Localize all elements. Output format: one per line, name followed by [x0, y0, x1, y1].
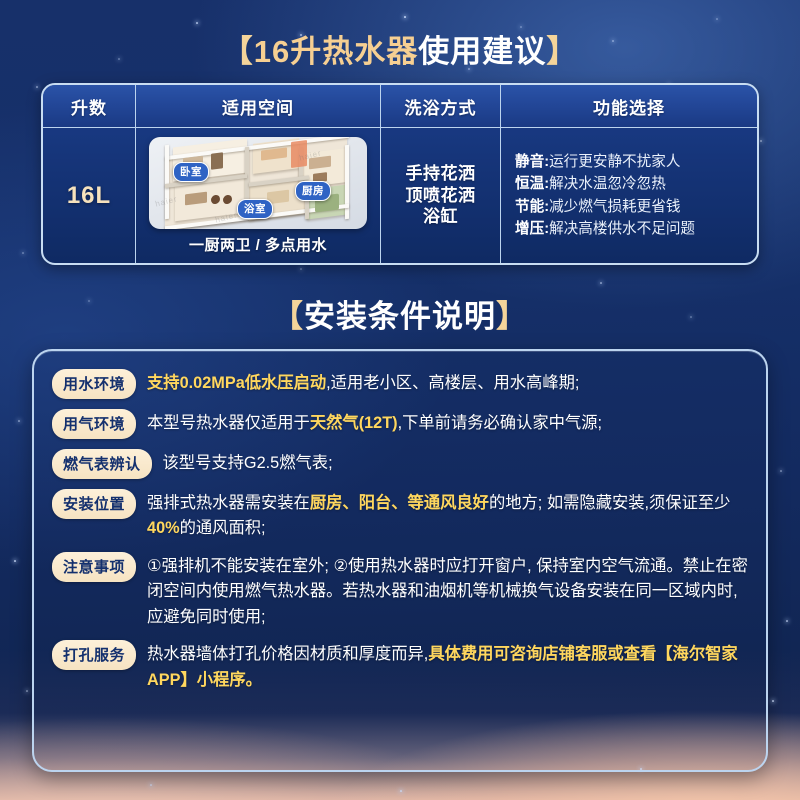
spec-table: 升数 适用空间 洗浴方式 功能选择 16L — [41, 83, 759, 265]
table-header-bathing: 洗浴方式 — [381, 85, 501, 127]
normal-text: 的地方; 如需隐藏安装,须保证至少 — [489, 494, 731, 512]
install-condition-text: 该型号支持G2.5燃气表; — [163, 449, 750, 476]
highlighted-text: 40% — [147, 519, 180, 537]
install-condition-badge: 燃气表辨认 — [52, 449, 152, 479]
install-condition-badge: 安装位置 — [52, 489, 136, 519]
bathing-method-item: 手持花洒 — [406, 163, 476, 185]
feature-row: 恒温:解决水温忽冷忽热 — [515, 173, 666, 195]
highlighted-text: 支持0.02MPa低水压启动 — [147, 374, 326, 392]
install-condition-row: 注意事项①强排机不能安装在室外; ②使用热水器时应打开窗户, 保持室内空气流通。… — [52, 552, 750, 630]
normal-text: 的通风面积; — [180, 519, 266, 537]
feature-value: 减少燃气损耗更省钱 — [549, 199, 680, 215]
normal-text: ,适用老小区、高楼层、用水高峰期; — [326, 374, 579, 392]
install-condition-row: 用水环境支持0.02MPa低水压启动,适用老小区、高楼层、用水高峰期; — [52, 369, 750, 399]
table-header-row: 升数 适用空间 洗浴方式 功能选择 — [43, 85, 757, 128]
normal-text: ①强排机不能安装在室外; ②使用热水器时应打开窗户, 保持室内空气流通。禁止在密… — [147, 557, 748, 626]
title2-bracket-left: 【 — [272, 299, 304, 334]
cell-bathing-methods: 手持花洒 顶喷花洒 浴缸 — [381, 128, 501, 263]
feature-value: 解决高楼供水不足问题 — [549, 221, 695, 237]
normal-text: 热水器墙体打孔价格因材质和厚度而异, — [147, 645, 428, 663]
normal-text: 强排式热水器需安装在 — [147, 494, 310, 512]
title-bracket-left: 【 — [222, 34, 254, 69]
floorplan-image: haier haier haier 卧室 厨房 浴室 — [149, 137, 367, 229]
install-condition-text: 本型号热水器仅适用于天然气(12T),下单前请务必确认家中气源; — [147, 409, 750, 436]
feature-value: 运行更安静不扰家人 — [549, 154, 680, 170]
cell-features: 静音:运行更安静不扰家人恒温:解决水温忽冷忽热节能:减少燃气损耗更省钱增压:解决… — [501, 128, 757, 263]
install-condition-text: 热水器墙体打孔价格因材质和厚度而异,具体费用可咨询店铺客服或查看【海尔智家APP… — [147, 640, 750, 693]
install-condition-badge: 用水环境 — [52, 369, 136, 399]
floorplan-caption: 一厨两卫 / 多点用水 — [189, 234, 327, 255]
feature-row: 节能:减少燃气损耗更省钱 — [515, 196, 680, 218]
table-body-row: 16L — [43, 128, 757, 263]
floorplan-label-bathroom: 浴室 — [237, 199, 273, 219]
install-condition-badge: 用气环境 — [52, 409, 136, 439]
title2-bracket-right: 】 — [496, 299, 528, 334]
feature-row: 静音:运行更安静不扰家人 — [515, 151, 680, 173]
install-condition-badge: 注意事项 — [52, 552, 136, 582]
install-condition-row: 燃气表辨认该型号支持G2.5燃气表; — [52, 449, 750, 479]
table-header-space: 适用空间 — [136, 85, 381, 127]
install-conditions-panel: 用水环境支持0.02MPa低水压启动,适用老小区、高楼层、用水高峰期;用气环境本… — [32, 349, 768, 772]
title-text-gold: 16升热水器 — [254, 34, 418, 69]
feature-key: 恒温: — [515, 176, 549, 192]
liters-value: 16L — [67, 182, 111, 210]
title-text-white: 使用建议 — [418, 34, 546, 69]
install-condition-badge: 打孔服务 — [52, 640, 136, 670]
bathing-method-item: 浴缸 — [423, 206, 458, 228]
install-condition-row: 打孔服务热水器墙体打孔价格因材质和厚度而异,具体费用可咨询店铺客服或查看【海尔智… — [52, 640, 750, 693]
table-header-features: 功能选择 — [501, 85, 757, 127]
install-condition-text: 强排式热水器需安装在厨房、阳台、等通风良好的地方; 如需隐藏安装,须保证至少40… — [147, 489, 750, 542]
feature-key: 增压: — [515, 221, 549, 237]
table-header-liters: 升数 — [43, 85, 136, 127]
floorplan-label-kitchen: 厨房 — [295, 181, 331, 201]
install-condition-text: 支持0.02MPa低水压启动,适用老小区、高楼层、用水高峰期; — [147, 369, 750, 396]
feature-row: 增压:解决高楼供水不足问题 — [515, 218, 695, 240]
floorplan-label-bedroom: 卧室 — [173, 162, 209, 182]
install-condition-text: ①强排机不能安装在室外; ②使用热水器时应打开窗户, 保持室内空气流通。禁止在密… — [147, 552, 750, 630]
feature-key: 节能: — [515, 199, 549, 215]
feature-value: 解决水温忽冷忽热 — [549, 176, 666, 192]
title2-text: 安装条件说明 — [304, 299, 496, 334]
title-bracket-right: 】 — [546, 34, 578, 69]
normal-text: ,下单前请务必确认家中气源; — [398, 414, 602, 432]
page-title-install-conditions: 【安装条件说明】 — [0, 291, 800, 336]
highlighted-text: 厨房、阳台、等通风良好 — [310, 494, 489, 512]
install-condition-row: 用气环境本型号热水器仅适用于天然气(12T),下单前请务必确认家中气源; — [52, 409, 750, 439]
cell-liters: 16L — [43, 128, 136, 263]
normal-text: 该型号支持G2.5燃气表; — [163, 454, 333, 472]
page-title-usage-advice: 【16升热水器使用建议】 — [0, 26, 800, 71]
feature-key: 静音: — [515, 154, 549, 170]
highlighted-text: 天然气(12T) — [310, 414, 398, 432]
cell-space: haier haier haier 卧室 厨房 浴室 一厨两卫 / 多点用水 — [136, 128, 381, 263]
normal-text: 本型号热水器仅适用于 — [147, 414, 310, 432]
install-condition-row: 安装位置强排式热水器需安装在厨房、阳台、等通风良好的地方; 如需隐藏安装,须保证… — [52, 489, 750, 542]
bathing-method-item: 顶喷花洒 — [406, 185, 476, 207]
